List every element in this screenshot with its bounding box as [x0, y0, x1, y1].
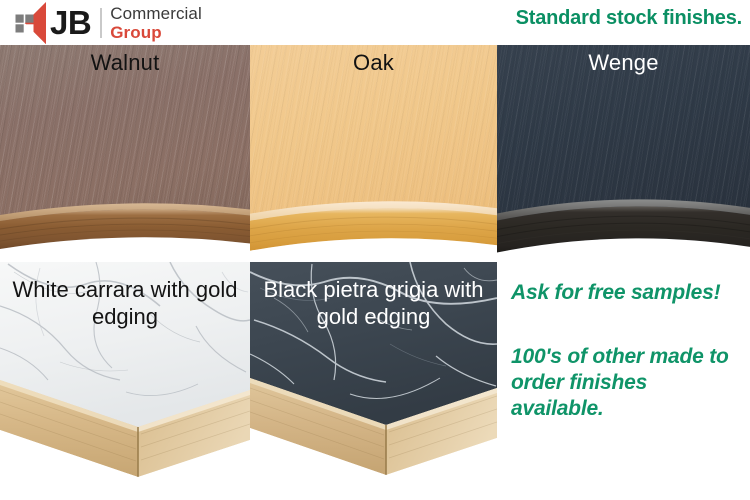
- finishes-poster: JB Commercial Group Standard stock finis…: [0, 0, 750, 500]
- finish-swatch-oak[interactable]: Oak: [250, 45, 497, 262]
- promo-text-block: Ask for free samples! 100's of other mad…: [497, 262, 750, 500]
- finish-swatch-walnut[interactable]: Walnut: [0, 45, 250, 262]
- promo-line-made-to-order: 100's of other made to order finishes av…: [511, 344, 743, 422]
- logo-line-commercial: Commercial: [110, 5, 202, 22]
- wenge-table-edge: [497, 45, 750, 262]
- brand-logo[interactable]: JB Commercial Group: [4, 2, 202, 43]
- finish-swatch-wenge[interactable]: Wenge: [497, 45, 750, 262]
- walnut-table-edge: [0, 45, 250, 262]
- logo-divider: [100, 8, 102, 38]
- white-carrara-label: White carrara with gold edging: [0, 276, 250, 330]
- oak-table-edge: [250, 45, 497, 262]
- logo-line-group: Group: [110, 24, 202, 41]
- finish-swatch-black-pietra-grigia[interactable]: Black pietra grigia with gold edging: [250, 262, 497, 500]
- stone-finishes-row: White carrara with gold edging: [0, 262, 750, 500]
- finish-swatch-white-carrara[interactable]: White carrara with gold edging: [0, 262, 250, 500]
- black-pietra-grigia-label: Black pietra grigia with gold edging: [250, 276, 497, 330]
- promo-copy: Ask for free samples! 100's of other mad…: [511, 280, 743, 422]
- page-title: Standard stock finishes.: [516, 7, 742, 30]
- jb-diamond-logo-icon: [4, 2, 46, 44]
- logo-wordmark: Commercial Group: [110, 5, 202, 41]
- wood-finishes-row: Walnut: [0, 45, 750, 262]
- page-header: JB Commercial Group Standard stock finis…: [0, 0, 750, 45]
- walnut-label: Walnut: [0, 50, 250, 76]
- logo-initials: JB: [50, 6, 91, 39]
- oak-label: Oak: [250, 50, 497, 76]
- promo-line-samples: Ask for free samples!: [511, 280, 743, 306]
- wenge-label: Wenge: [497, 50, 750, 76]
